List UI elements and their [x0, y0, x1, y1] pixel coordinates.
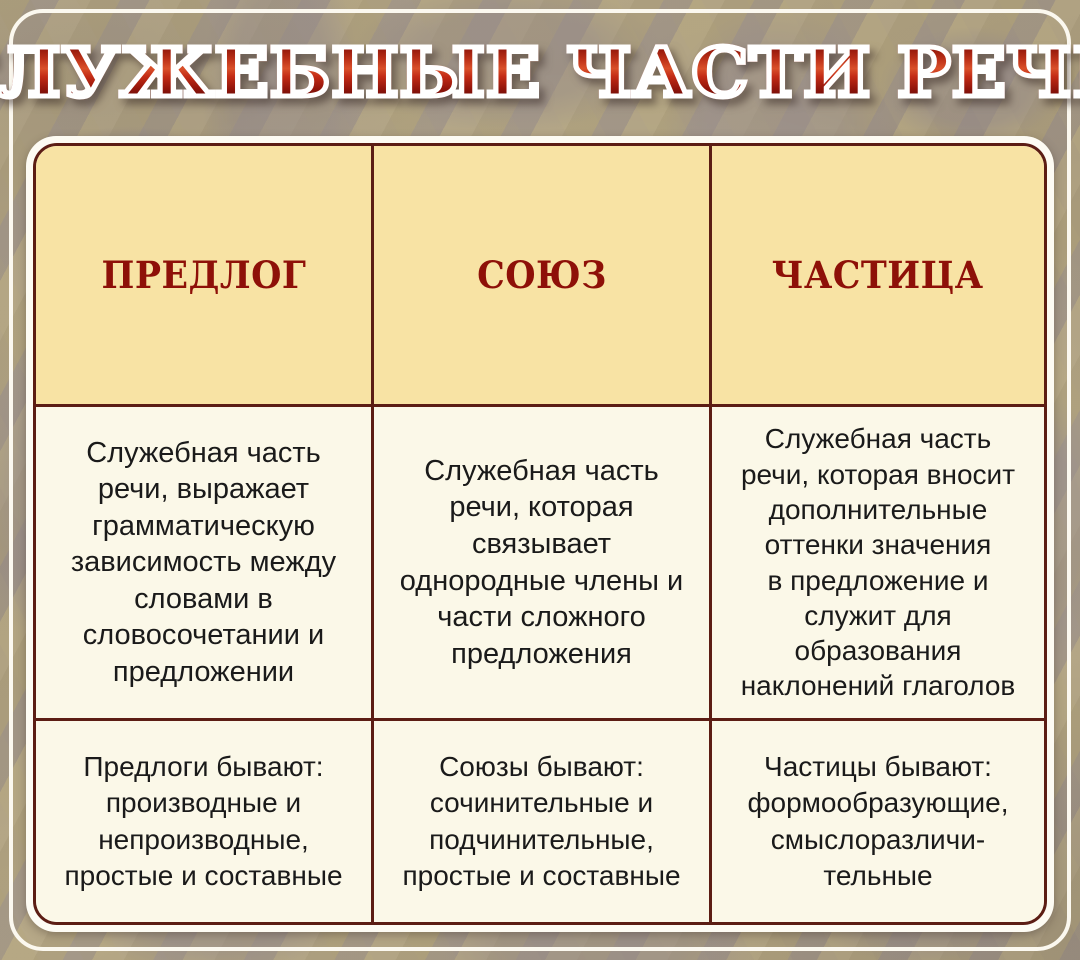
header-cell-chastitsa: ЧАСТИЦА: [712, 146, 1044, 404]
kinds-cell-soyuz: Союзы бывают: сочинительные и подчинител…: [371, 721, 712, 922]
definition-text: Служебная часть речи, выражает грамматич…: [71, 435, 336, 691]
kinds-text: Союзы бывают: сочинительные и подчинител…: [402, 749, 680, 895]
definition-text: Служебная часть речи, которая связывает …: [400, 453, 683, 672]
header-cell-soyuz: СОЮЗ: [371, 146, 712, 404]
page-title: СЛУЖЕБНЫЕ ЧАСТИ РЕЧИ: [0, 39, 1080, 106]
definition-cell-chastitsa: Служебная часть речи, которая вносит доп…: [712, 407, 1044, 718]
kinds-text: Частицы бывают: формообразующие, смыслор…: [748, 749, 1009, 895]
kinds-cell-predlog: Предлоги бывают: производные и непроизво…: [36, 721, 371, 922]
definition-text: Служебная часть речи, которая вносит доп…: [741, 421, 1016, 703]
kinds-cell-chastitsa: Частицы бывают: формообразующие, смыслор…: [712, 721, 1044, 922]
table-header-row: ПРЕДЛОГ СОЮЗ ЧАСТИЦА: [36, 146, 1044, 404]
column-header-label: СОЮЗ: [477, 253, 607, 297]
poster-root: СЛУЖЕБНЫЕ ЧАСТИ РЕЧИ ПРЕДЛОГ СОЮЗ ЧАСТИЦ…: [0, 0, 1080, 960]
title-banner: СЛУЖЕБНЫЕ ЧАСТИ РЕЧИ: [0, 26, 1080, 118]
column-header-label: ЧАСТИЦА: [772, 253, 984, 297]
definition-cell-soyuz: Служебная часть речи, которая связывает …: [371, 407, 712, 718]
parts-of-speech-table: ПРЕДЛОГ СОЮЗ ЧАСТИЦА Служебная часть реч…: [33, 143, 1047, 925]
definition-cell-predlog: Служебная часть речи, выражает грамматич…: [36, 407, 371, 718]
kinds-text: Предлоги бывают: производные и непроизво…: [64, 749, 342, 895]
column-header-label: ПРЕДЛОГ: [101, 253, 306, 297]
table-kinds-row: Предлоги бывают: производные и непроизво…: [36, 718, 1044, 922]
header-cell-predlog: ПРЕДЛОГ: [36, 146, 371, 404]
table-definition-row: Служебная часть речи, выражает грамматич…: [36, 404, 1044, 718]
